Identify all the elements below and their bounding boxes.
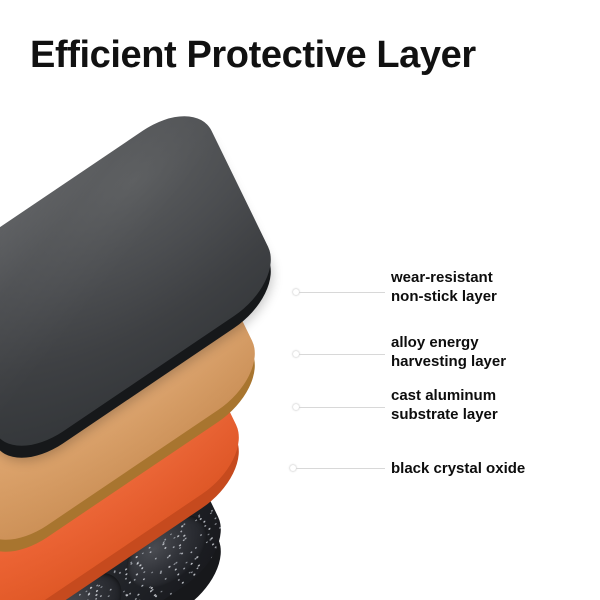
- page-title: Efficient Protective Layer: [30, 34, 476, 77]
- callout-label-nonstick-line2: non-stick layer: [391, 287, 497, 306]
- callout-line-nonstick: [299, 292, 385, 293]
- callout-label-alloy: alloy energy harvesting layer: [391, 333, 506, 371]
- callout-line-aluminum: [299, 407, 385, 408]
- infographic-page: Efficient Protective Layer: [0, 0, 600, 600]
- callout-label-alloy-line2: harvesting layer: [391, 352, 506, 371]
- callout-label-oxide: black crystal oxide: [391, 459, 525, 478]
- callout-line-oxide: [296, 468, 385, 469]
- layer-stack-illustration: [0, 110, 360, 590]
- callout-label-alloy-line1: alloy energy: [391, 333, 506, 352]
- callout-label-aluminum-line2: substrate layer: [391, 405, 498, 424]
- callout-label-nonstick: wear-resistant non-stick layer: [391, 268, 497, 306]
- callout-line-alloy: [299, 354, 385, 355]
- callout-label-aluminum-line1: cast aluminum: [391, 386, 498, 405]
- callout-label-nonstick-line1: wear-resistant: [391, 268, 497, 287]
- callout-label-oxide-line1: black crystal oxide: [391, 459, 525, 478]
- callout-label-aluminum: cast aluminum substrate layer: [391, 386, 498, 424]
